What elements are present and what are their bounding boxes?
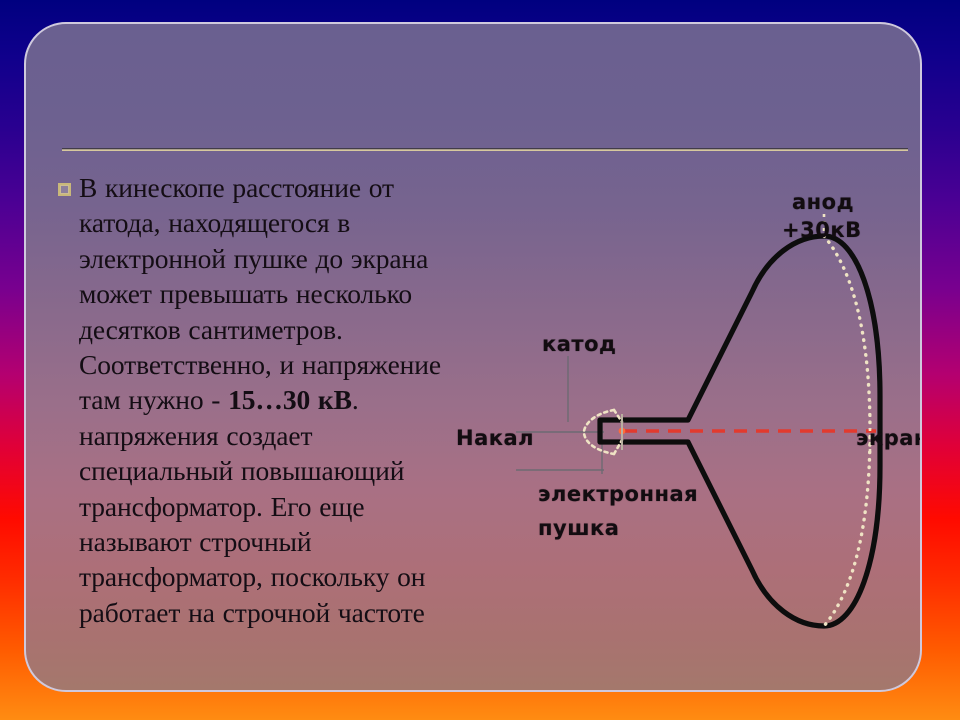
crt-tube-diagram: анод +30кВ катод Накал электронная пушка… — [456, 174, 916, 674]
label-screen: экран — [856, 426, 922, 450]
label-heater: Накал — [456, 426, 534, 450]
leader-lines — [516, 356, 604, 474]
paragraph-text-part2: . напряжения создает специальный повышаю… — [79, 384, 425, 627]
presentation-slide: В кинескопе расстояние от катода, находя… — [0, 0, 960, 720]
bullet-paragraph: В кинескопе расстояние от катода, находя… — [58, 170, 448, 630]
title-divider-rule — [62, 148, 908, 151]
label-electron-gun-line1: электронная — [538, 482, 698, 506]
label-cathode: катод — [542, 332, 616, 356]
label-anode-voltage: +30кВ — [782, 218, 862, 242]
square-bullet-icon — [58, 183, 71, 196]
paragraph-text-part1: В кинескопе расстояние от катода, находя… — [79, 172, 441, 415]
crt-tube-svg — [456, 174, 916, 674]
label-electron-gun-line2: пушка — [538, 516, 619, 540]
paragraph-text: В кинескопе расстояние от катода, находя… — [79, 170, 448, 630]
slide-content-panel: В кинескопе расстояние от катода, находя… — [24, 22, 922, 692]
paragraph-text-bold: 15…30 кВ — [228, 384, 352, 415]
label-anode: анод — [792, 190, 854, 214]
